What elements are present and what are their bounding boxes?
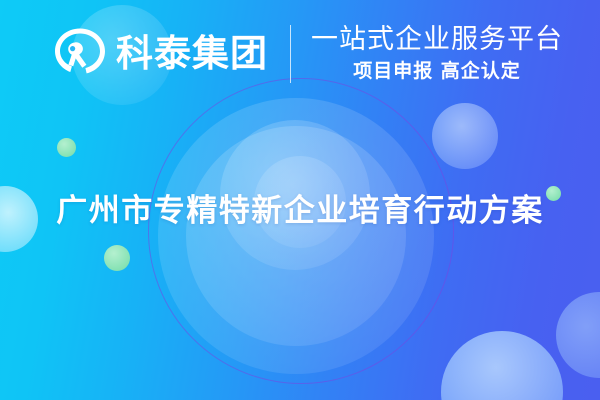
decorative-circle-middle	[186, 126, 406, 346]
brand-name: 科泰集团	[116, 35, 268, 72]
decorative-circle-outer	[158, 98, 434, 374]
banner-header: 科泰集团 一站式企业服务平台 项目申报 高企认定	[52, 24, 563, 84]
decorative-circle-bottom-right	[441, 331, 563, 400]
brand-lockup: 科泰集团	[52, 26, 268, 82]
decorative-ring-outline	[148, 78, 454, 384]
decorative-dot-green-left	[57, 138, 76, 157]
header-divider	[290, 25, 291, 83]
slogan-block: 一站式企业服务平台 项目申报 高企认定	[311, 24, 563, 84]
slogan-secondary: 项目申报 高企认定	[311, 59, 563, 84]
page-title: 广州市专精特新企业培育行动方案	[0, 192, 600, 231]
decorative-circle-bottom-right-small	[556, 292, 600, 378]
decorative-circle-right-top	[432, 103, 498, 169]
decorative-dot-green-lower-left	[104, 245, 130, 271]
promotional-banner: 科泰集团 一站式企业服务平台 项目申报 高企认定 广州市专精特新企业培育行动方案	[0, 0, 600, 400]
slogan-primary: 一站式企业服务平台	[311, 24, 563, 56]
ketai-circular-r-logo-icon	[52, 26, 108, 82]
